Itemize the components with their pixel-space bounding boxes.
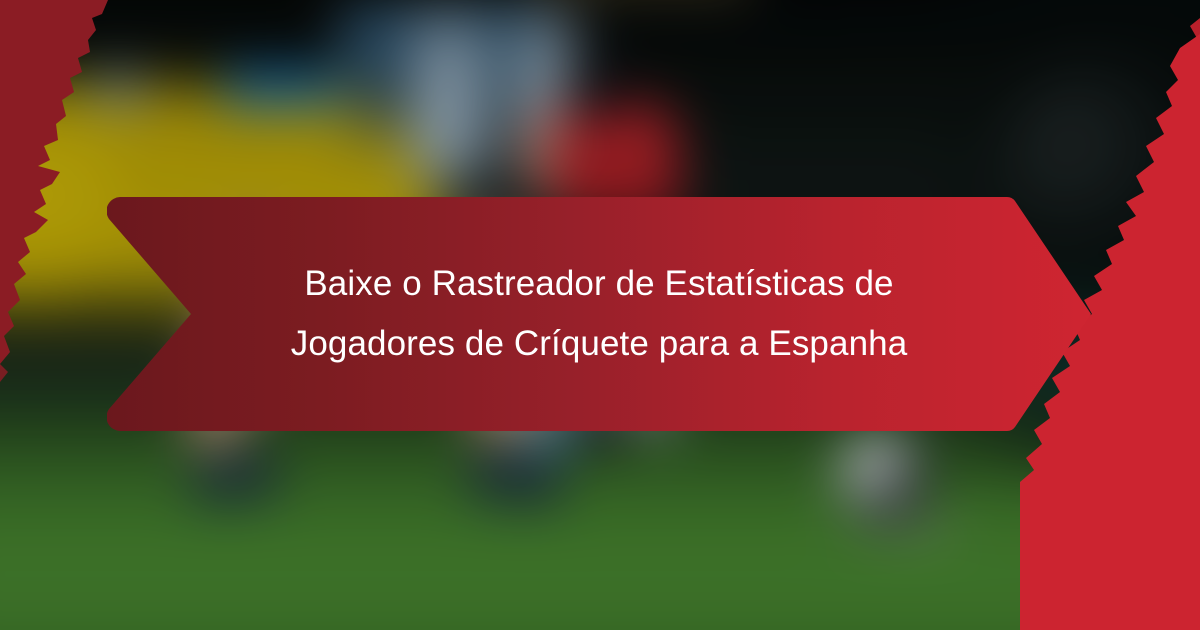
headline-line-2: Jogadores de Críquete para a Espanha: [291, 315, 908, 373]
banner-headline: Baixe o Rastreador de Estatísticas de Jo…: [107, 197, 1091, 431]
headline-line-1: Baixe o Rastreador de Estatísticas de: [304, 255, 893, 313]
promo-banner-image: Baixe o Rastreador de Estatísticas de Jo…: [0, 0, 1200, 630]
